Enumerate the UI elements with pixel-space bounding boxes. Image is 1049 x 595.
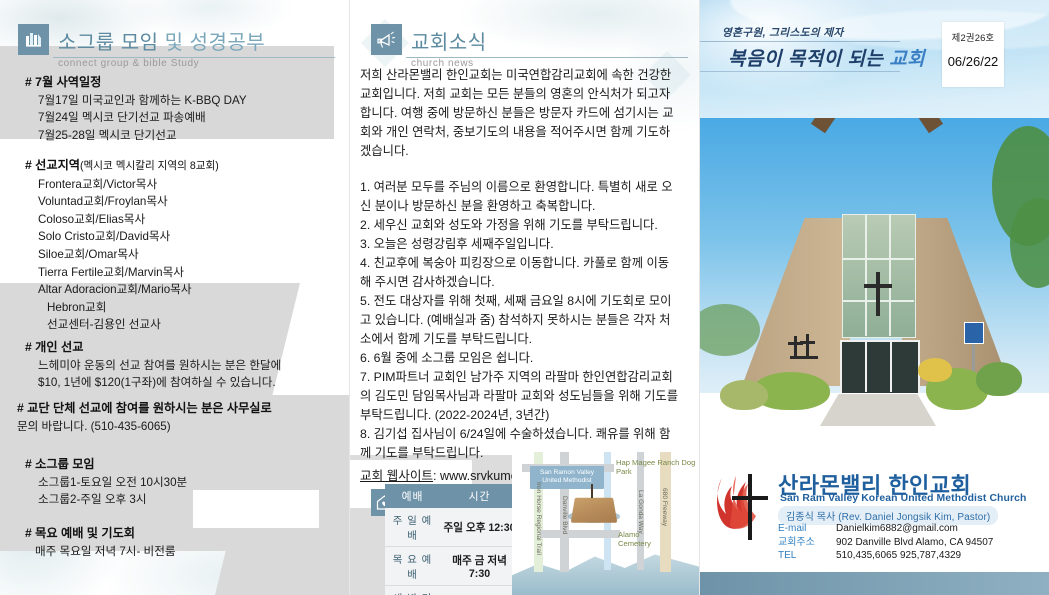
photo-small-cross bbox=[794, 336, 797, 358]
list-item: 느헤미야 운동의 선교 참여를 원하시는 분은 한달에 bbox=[25, 357, 330, 375]
list-item: Voluntad교회/Froylan목사 bbox=[25, 193, 335, 211]
map-label-680: 680 Freeway bbox=[661, 488, 668, 526]
motto-large: 복음이 목적이 되는 교회 bbox=[728, 44, 925, 71]
contact-value: 510,435,6065 925,787,4329 bbox=[836, 550, 961, 561]
list-item: $10, 1년에 $120(1구좌)에 참여하실 수 있습니다. bbox=[25, 374, 330, 392]
list-item: Coloso교회/Elias목사 bbox=[25, 211, 335, 229]
photo-window-mullion bbox=[889, 214, 891, 336]
church-photo bbox=[700, 118, 1049, 463]
announcement-item: 1. 여러분 모두를 주님의 이름으로 환영합니다. 특별히 새로 오신 분이나… bbox=[360, 178, 680, 216]
umc-cross-flame-logo bbox=[712, 470, 770, 544]
section-heading: # 선교지역(멕시코 멕시칼리 지역의 8교회) bbox=[25, 157, 335, 176]
photo-accessibility-sign bbox=[964, 322, 984, 344]
photo-door-divider bbox=[890, 340, 892, 392]
cell-time: 매주 금 저녁 7:30 bbox=[440, 547, 519, 586]
map-label-trail: Iron Horse Regional Trail bbox=[535, 482, 542, 555]
list-item: 7월24일 멕시코 단기선교 파송예배 bbox=[25, 109, 325, 127]
photo-door-divider bbox=[865, 340, 867, 392]
cell-service: 목 요 예 배 bbox=[385, 547, 440, 586]
announcement-item: 7. PIM파트너 교회인 남가주 지역의 라팔마 한인연합감리교회의 김도민 … bbox=[360, 368, 680, 425]
mid-section-title: 교회소식 bbox=[411, 33, 487, 55]
photo-window-mullion bbox=[865, 214, 867, 336]
announcement-item: 3. 오늘은 성령강림후 세째주일입니다. bbox=[360, 235, 680, 254]
contact-label: 교회주소 bbox=[778, 536, 836, 550]
section-mission-regions: # 선교지역(멕시코 멕시칼리 지역의 8교회) Frontera교회/Vict… bbox=[25, 157, 335, 334]
left-section-subtitle: connect group & bible Study bbox=[58, 58, 199, 69]
cell-service: 주 일 예 배 bbox=[385, 508, 440, 547]
contact-value: 902 Danville Blvd Alamo, CA 94507 bbox=[836, 537, 993, 548]
map-church-spire bbox=[591, 484, 593, 498]
church-intro-paragraph: 저희 산라몬밸리 한인교회는 미국연합감리교회에 속한 건강한 교회입니다. 저… bbox=[360, 66, 680, 161]
books-icon bbox=[18, 24, 49, 55]
section-personal-mission: # 개인 선교 느헤미야 운동의 선교 참여를 원하시는 분은 한달에 $10,… bbox=[25, 339, 330, 392]
list-item: 매주 목요일 저녁 7시- 비전룸 bbox=[25, 543, 325, 561]
photo-small-cross bbox=[806, 334, 809, 358]
church-name-english: San Ram Valley Korean United Methodist C… bbox=[780, 493, 1026, 504]
section-heading: # 개인 선교 bbox=[25, 339, 330, 357]
announcement-item: 5. 전도 대상자를 위해 첫째, 세째 금요일 8시에 기도회로 모이고 있습… bbox=[360, 292, 680, 349]
photo-bush bbox=[720, 380, 768, 410]
column-header-time: 시간 bbox=[440, 484, 519, 508]
list-item: Hebron교회 bbox=[25, 299, 335, 317]
location-map[interactable]: San Ramon Valley United Methodist Hap Ma… bbox=[512, 452, 700, 595]
photo-cross-base bbox=[790, 356, 818, 359]
announcement-item: 4. 친교후에 복숭아 피킹장으로 이동합니다. 카풀로 함께 이동해 주시면 … bbox=[360, 254, 680, 292]
table-row: 새 벽 기 도 매일 새벽 6:00 bbox=[385, 586, 519, 595]
announcement-item: 2. 세우신 교회와 성도와 가정을 위해 기도를 부탁드립니다. bbox=[360, 216, 680, 235]
table-header-row: 예배 시간 bbox=[385, 484, 519, 508]
list-item: 선교센터-김용인 선교사 bbox=[25, 316, 335, 334]
photo-small-cross bbox=[800, 341, 815, 344]
list-item: Siloe교회/Omar목사 bbox=[25, 246, 335, 264]
section-july-schedule: # 7월 사역일정 7월17일 미국교인과 함께하는 K-BBQ DAY 7월2… bbox=[25, 74, 325, 144]
motto-rule-bottom bbox=[700, 71, 900, 72]
photo-flowers bbox=[918, 358, 952, 382]
map-label-lagonda: La Gonda Way bbox=[637, 490, 644, 534]
list-item: 문의 바랍니다. (510-435-6065) bbox=[17, 418, 337, 436]
motto-small: 영혼구원, 그리스도의 제자 bbox=[722, 25, 844, 40]
photo-bush bbox=[976, 362, 1022, 396]
map-church-building bbox=[571, 498, 618, 523]
section-heading: # 목요 예배 및 기도회 bbox=[25, 525, 325, 543]
bulletin-sheet: 소그룹 모임 및 성경공부 connect group & bible Stud… bbox=[0, 0, 1049, 595]
table-row: 주 일 예 배 주일 오후 12:30 bbox=[385, 508, 519, 547]
contact-value[interactable]: Danielkim6882@gmail.com bbox=[836, 523, 958, 534]
map-road-horizontal-bottom bbox=[540, 530, 620, 538]
worship-schedule-table: 예배 시간 주 일 예 배 주일 오후 12:30 목 요 예 배 매주 금 저… bbox=[385, 484, 519, 595]
volume-number: 제2권26호 bbox=[942, 22, 1004, 44]
list-item: 7월17일 미국교인과 함께하는 K-BBQ DAY bbox=[25, 92, 325, 110]
section-denomination-mission: # 교단 단체 선교에 참여를 원하시는 분은 사무실로 문의 바랍니다. (5… bbox=[17, 400, 337, 435]
section-heading: # 7월 사역일정 bbox=[25, 74, 325, 92]
contact-label: E-mail bbox=[778, 522, 836, 536]
contact-row-email: E-mailDanielkim6882@gmail.com bbox=[778, 522, 993, 536]
list-item: Solo Cristo교회/David목사 bbox=[25, 228, 335, 246]
cell-service: 새 벽 기 도 bbox=[385, 586, 440, 595]
section-heading: # 소그룹 모임 bbox=[25, 456, 325, 474]
list-item: 소그룹2-주일 오후 3시 bbox=[25, 491, 325, 509]
list-item: Tierra Fertile교회/Marvin목사 bbox=[25, 264, 335, 282]
photo-walkway bbox=[820, 394, 936, 426]
section-heading: # 교단 단체 선교에 참여를 원하시는 분은 사무실로 bbox=[17, 400, 337, 418]
photo-cross-vertical bbox=[876, 272, 880, 316]
column-header-service: 예배 bbox=[385, 484, 440, 508]
bulletin-date: 06/26/22 bbox=[942, 44, 1004, 69]
cell-time: 주일 오후 12:30 bbox=[440, 508, 519, 547]
megaphone-icon bbox=[371, 24, 402, 55]
cell-time: 매일 새벽 6:00 bbox=[440, 586, 519, 595]
website-label: 교회 웹사이트 bbox=[360, 469, 433, 483]
panel-divider bbox=[699, 0, 700, 595]
left-section-title: 소그룹 모임 및 성경공부 bbox=[58, 33, 265, 55]
section-small-groups: # 소그룹 모임 소그룹1-토요일 오전 10시30분 소그룹2-주일 오후 3… bbox=[25, 456, 325, 509]
announcement-item: 6. 6월 중에 소그룹 모임은 쉽니다. bbox=[360, 349, 680, 368]
map-poi-dog-park: Hap Magee Ranch Dog Park bbox=[616, 458, 700, 477]
contact-info: E-mailDanielkim6882@gmail.com 교회주소902 Da… bbox=[778, 522, 993, 563]
list-item: Frontera교회/Victor목사 bbox=[25, 176, 335, 194]
list-item: 소그룹1-토요일 오전 10시30분 bbox=[25, 474, 325, 492]
left-panel: 소그룹 모임 및 성경공부 connect group & bible Stud… bbox=[0, 0, 350, 595]
contact-row-tel: TEL510,435,6065 925,787,4329 bbox=[778, 549, 993, 563]
mid-section-header: 교회소식 bbox=[371, 24, 487, 55]
volume-date-box: 제2권26호 06/26/22 bbox=[942, 22, 1004, 87]
left-section-header: 소그룹 모임 및 성경공부 bbox=[18, 24, 265, 55]
contact-row-address: 교회주소902 Danville Blvd Alamo, CA 94507 bbox=[778, 536, 993, 550]
list-item: Altar Adoracion교회/Mario목사 bbox=[25, 281, 335, 299]
photo-window-mullion bbox=[842, 258, 914, 260]
contact-label: TEL bbox=[778, 549, 836, 563]
map-label-danville: Danville Blvd bbox=[561, 496, 568, 534]
footer-blue-strip bbox=[700, 572, 1049, 595]
motto-rule-top bbox=[700, 41, 900, 42]
table-row: 목 요 예 배 매주 금 저녁 7:30 bbox=[385, 547, 519, 586]
panel-divider bbox=[349, 0, 350, 595]
list-item: 7월25-28일 멕시코 단기선교 bbox=[25, 127, 325, 145]
section-thursday-service: # 목요 예배 및 기도회 매주 목요일 저녁 7시- 비전룸 bbox=[25, 525, 325, 560]
photo-entrance-doors bbox=[840, 340, 920, 396]
photo-cross-horizontal bbox=[864, 284, 892, 288]
